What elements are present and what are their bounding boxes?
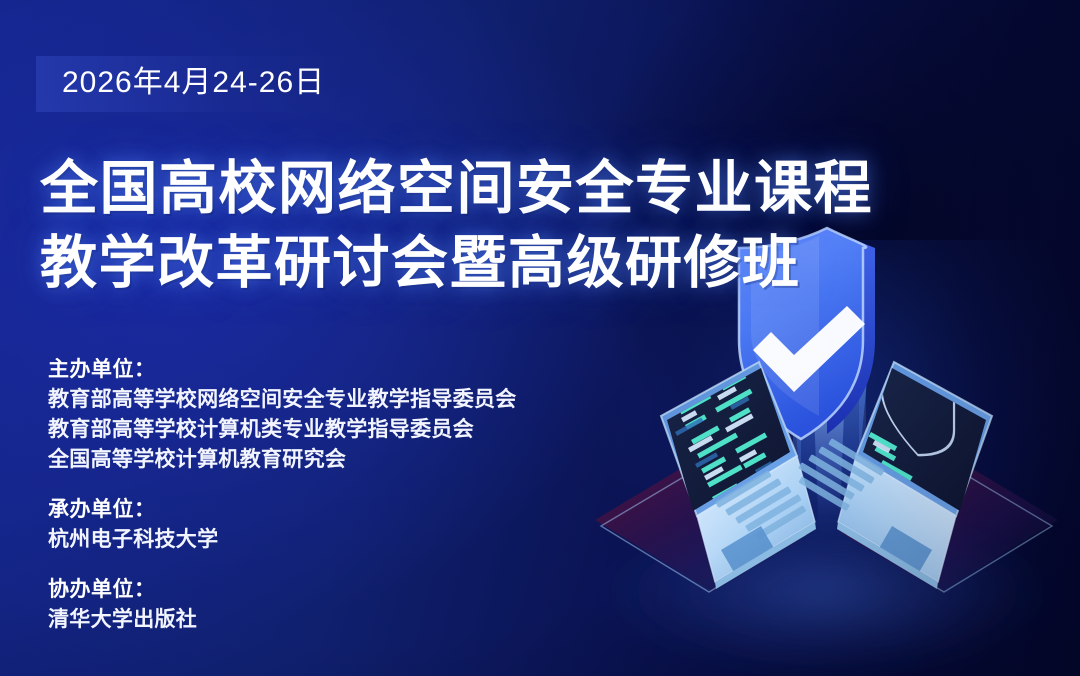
code-lines-left: [675, 373, 780, 501]
organizer-group-coorganizer: 协办单位： 清华大学出版社: [48, 575, 608, 635]
laptop-code-icon: [595, 362, 816, 592]
light-beam: [787, 338, 871, 550]
floor-glow: [597, 506, 1057, 676]
organizer-group-organizer: 承办单位： 杭州电子科技大学: [48, 495, 608, 555]
event-date-badge: 2026年4月24-26日: [36, 56, 351, 112]
title-line-2: 教学改革研讨会暨高级研修班: [40, 226, 940, 300]
organizer-info: 主办单位： 教育部高等学校网络空间安全专业教学指导委员会 教育部高等学校计算机类…: [48, 355, 608, 635]
host-item: 全国高等学校计算机教育研究会: [48, 445, 608, 475]
keyboard-keys-right: [798, 438, 885, 511]
coorganizer-label: 协办单位：: [48, 575, 608, 605]
host-label: 主办单位：: [48, 355, 608, 385]
poster-title: 全国高校网络空间安全专业课程 教学改革研讨会暨高级研修班: [40, 152, 940, 300]
organizer-label: 承办单位：: [48, 495, 608, 525]
host-item: 教育部高等学校网络空间安全专业教学指导委员会: [48, 385, 608, 415]
keyboard-keys-left: [715, 470, 807, 540]
conference-poster: 2026年4月24-26日 全国高校网络空间安全专业课程 教学改革研讨会暨高级研…: [0, 0, 1080, 676]
organizer-item: 杭州电子科技大学: [48, 525, 608, 555]
code-lines-right: [868, 432, 921, 507]
organizer-group-host: 主办单位： 教育部高等学校网络空间安全专业教学指导委员会 教育部高等学校计算机类…: [48, 355, 608, 475]
title-line-1: 全国高校网络空间安全专业课程: [40, 152, 940, 226]
coorganizer-item: 清华大学出版社: [48, 605, 608, 635]
background-glow-center: [600, 240, 1080, 676]
screen-content-right: [868, 344, 954, 510]
host-item: 教育部高等学校计算机类专业教学指导委员会: [48, 415, 608, 445]
laptop-shield-icon: [798, 344, 1058, 592]
screen-shield-outline: [882, 344, 954, 475]
